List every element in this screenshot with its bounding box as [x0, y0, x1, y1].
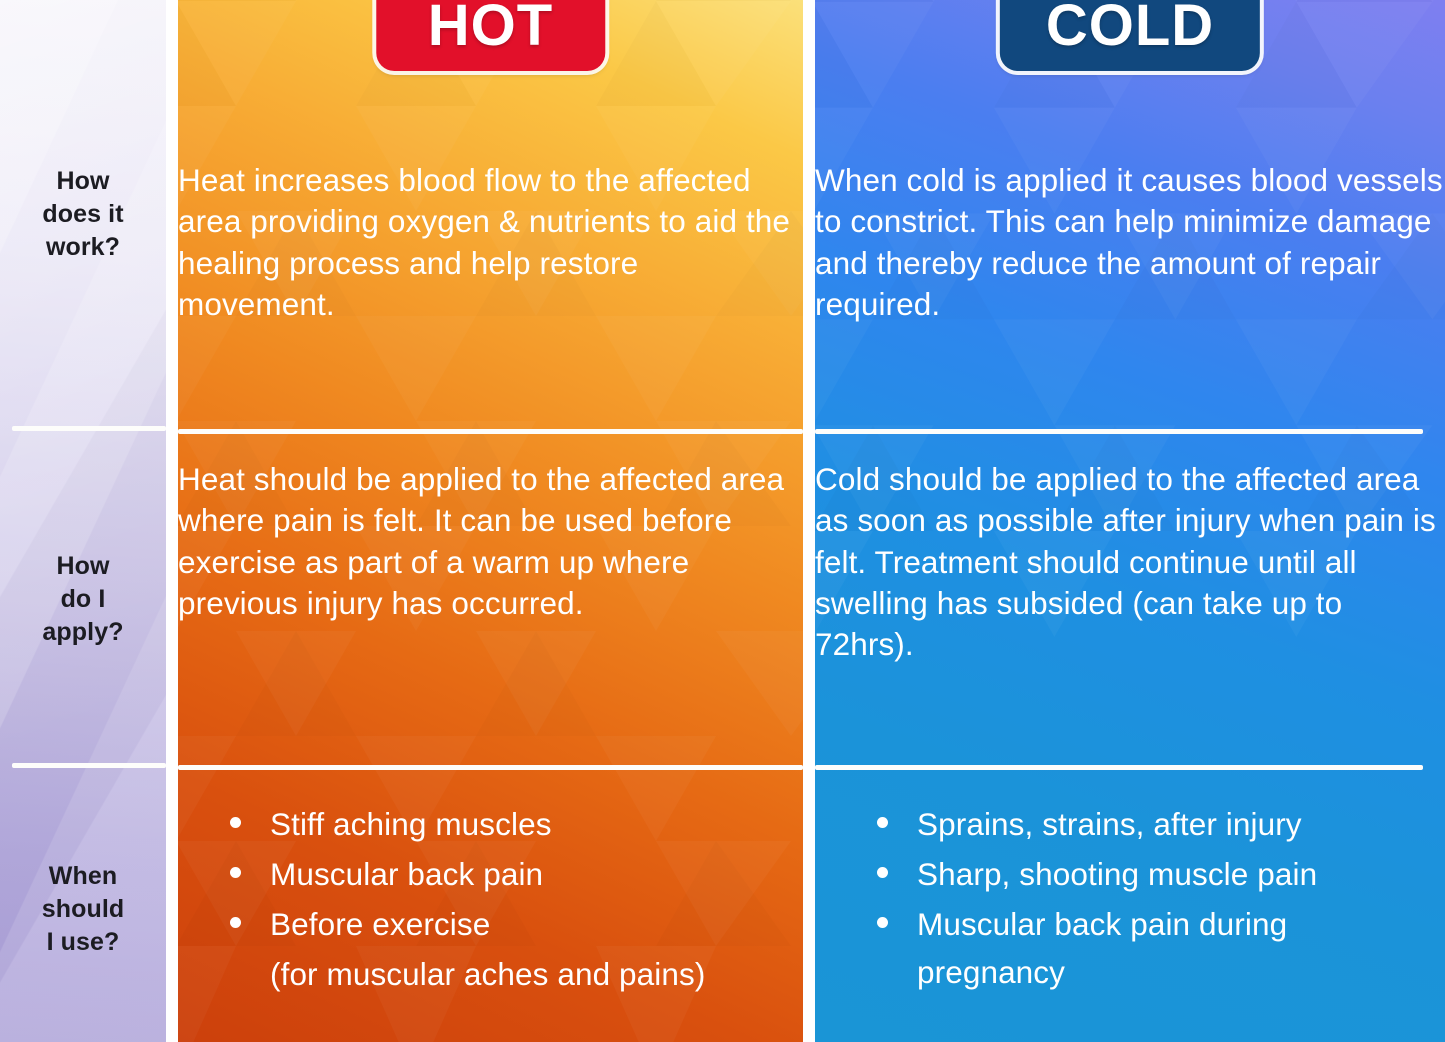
- label-row-when-should-i-use: When should I use?: [0, 776, 166, 1042]
- list-item: Muscular back pain during pregnancy: [869, 901, 1427, 997]
- label-column-divider-1: [12, 426, 166, 431]
- cold-how-to-apply-cell: Cold should be applied to the affected a…: [815, 439, 1445, 765]
- list-item: Sprains, strains, after injury: [869, 801, 1427, 849]
- cold-divider-1: [815, 429, 1423, 434]
- bullet-dot-icon: [877, 817, 888, 828]
- hot-how-to-apply-text: Heat should be applied to the affected a…: [178, 459, 803, 624]
- cold-bullet-2: Sharp, shooting muscle pain: [917, 856, 1317, 892]
- label-how-do-i-apply: How do I apply?: [42, 550, 123, 649]
- hot-rows: Heat increases blood flow to the affecte…: [178, 0, 803, 1042]
- cold-when-to-use-cell: Sprains, strains, after injury Sharp, sh…: [815, 779, 1445, 1042]
- cold-when-to-use-list: Sprains, strains, after injury Sharp, sh…: [859, 801, 1427, 997]
- hot-divider-1: [178, 429, 803, 434]
- cold-how-to-apply-text: Cold should be applied to the affected a…: [815, 459, 1445, 665]
- hot-bullet-3: Before exercise: [270, 906, 490, 942]
- question-label-column: How does it work? How do I apply? When s…: [0, 0, 166, 1042]
- content-columns: HOT Heat increases blood flow to the aff…: [166, 0, 1445, 1042]
- hot-when-to-use-note: (for muscular aches and pains): [212, 951, 785, 999]
- bullet-dot-icon: [877, 867, 888, 878]
- hot-how-it-works-text: Heat increases blood flow to the affecte…: [178, 160, 803, 325]
- bullet-dot-icon: [877, 917, 888, 928]
- list-item: Muscular back pain: [222, 851, 785, 899]
- bullet-dot-icon: [230, 867, 241, 878]
- list-item: Before exercise: [222, 901, 785, 949]
- hot-bullet-2: Muscular back pain: [270, 856, 543, 892]
- label-when-should-i-use: When should I use?: [42, 860, 125, 959]
- cold-how-it-works-text: When cold is applied it causes blood ves…: [815, 160, 1445, 325]
- cold-rows: When cold is applied it causes blood ves…: [815, 0, 1445, 1042]
- label-row-how-does-it-work: How does it work?: [0, 0, 166, 428]
- hot-badge: HOT: [376, 0, 605, 71]
- label-how-does-it-work: How does it work?: [42, 165, 123, 264]
- label-column-divider-2: [12, 763, 166, 768]
- label-row-how-do-i-apply: How do I apply?: [0, 436, 166, 762]
- hot-how-to-apply-cell: Heat should be applied to the affected a…: [178, 439, 803, 765]
- bullet-dot-icon: [230, 917, 241, 928]
- hot-column: HOT Heat increases blood flow to the aff…: [178, 0, 803, 1042]
- list-item: Sharp, shooting muscle pain: [869, 851, 1427, 899]
- cold-badge: COLD: [1000, 0, 1260, 71]
- cold-column: COLD When cold is applied it causes bloo…: [815, 0, 1445, 1042]
- hot-when-to-use-cell: Stiff aching muscles Muscular back pain …: [178, 779, 803, 1042]
- hot-bullet-1: Stiff aching muscles: [270, 806, 552, 842]
- hot-vs-cold-comparison-infographic: How does it work? How do I apply? When s…: [0, 0, 1445, 1042]
- cold-bullet-3: Muscular back pain during pregnancy: [917, 906, 1287, 990]
- hot-when-to-use-list: Stiff aching muscles Muscular back pain …: [212, 801, 785, 949]
- bullet-dot-icon: [230, 817, 241, 828]
- cold-bullet-1: Sprains, strains, after injury: [917, 806, 1302, 842]
- cold-divider-2: [815, 765, 1423, 770]
- hot-divider-2: [178, 765, 803, 770]
- list-item: Stiff aching muscles: [222, 801, 785, 849]
